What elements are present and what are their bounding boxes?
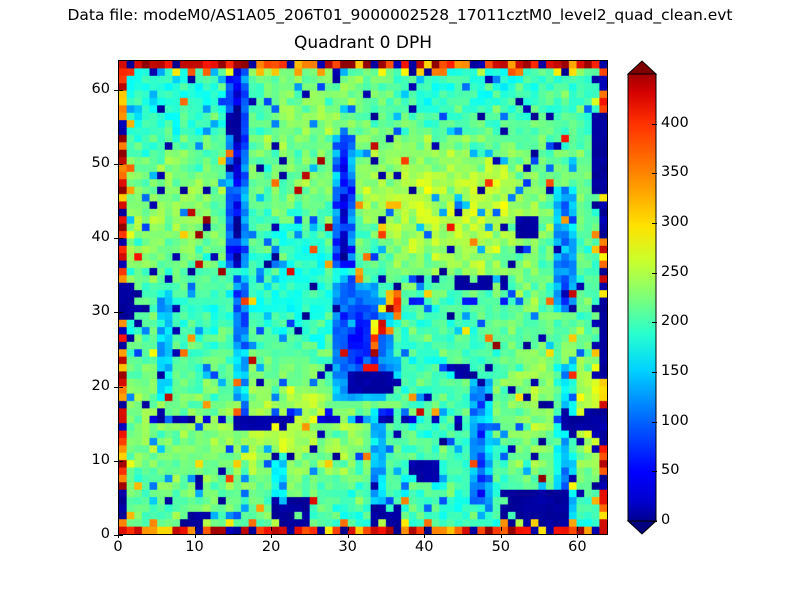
colorbar-tick-mark [652,173,657,174]
x-tick-mark-inner [195,527,196,531]
axes-title: Quadrant 0 DPH [118,33,608,53]
colorbar-tick-mark [652,322,657,323]
y-tick-mark [114,535,118,536]
y-tick-mark-inner [119,164,123,165]
x-tick-label: 30 [318,539,378,555]
x-tick-mark-inner [271,527,272,531]
colorbar-tick-mark [652,422,657,423]
x-tick-mark-inner [501,527,502,531]
y-tick-mark [114,461,118,462]
x-tick-mark [271,534,272,538]
colorbar-gradient [625,60,659,535]
colorbar-tick-label: 350 [661,164,689,180]
colorbar-tick-mark [652,223,657,224]
x-tick-mark-inner [577,527,578,531]
x-tick-mark-inner [424,527,425,531]
y-tick-label: 40 [60,229,110,245]
colorbar-tick-label: 200 [661,313,689,329]
y-tick-label: 20 [60,378,110,394]
x-tick-label: 50 [471,539,531,555]
y-tick-label: 50 [60,155,110,171]
y-tick-label: 60 [60,81,110,97]
colorbar-tick-label: 300 [661,214,689,230]
colorbar-tick-mark [652,273,657,274]
x-tick-label: 40 [394,539,454,555]
x-tick-label: 60 [547,539,607,555]
colorbar-body [628,74,656,521]
colorbar-tick-label: 400 [661,115,689,131]
heatmap-image [119,61,607,534]
colorbar-tick-mark [652,124,657,125]
y-tick-mark [114,164,118,165]
y-tick-mark [114,238,118,239]
colorbar-tick-label: 50 [661,462,679,478]
y-tick-mark [114,312,118,313]
x-tick-label: 20 [241,539,301,555]
x-tick-mark [195,534,196,538]
x-tick-mark [501,534,502,538]
x-tick-mark [424,534,425,538]
y-tick-mark-inner [119,90,123,91]
y-tick-mark-inner [119,238,123,239]
y-tick-mark [114,387,118,388]
x-tick-mark [577,534,578,538]
colorbar-extend-max-arrow [628,61,656,74]
x-tick-label: 10 [165,539,225,555]
y-tick-mark-inner [119,312,123,313]
colorbar-tick-mark [652,372,657,373]
colorbar-tick-label: 0 [661,512,670,528]
colorbar-tick-label: 100 [661,413,689,429]
colorbar-tick-mark [652,521,657,522]
y-tick-mark [114,90,118,91]
x-tick-mark-inner [348,527,349,531]
y-tick-mark-inner [119,461,123,462]
y-tick-mark-inner [119,535,123,536]
colorbar-tick-label: 150 [661,363,689,379]
y-tick-label: 30 [60,303,110,319]
heatmap-axes [118,60,608,535]
y-tick-label: 0 [60,526,110,542]
colorbar [625,60,659,535]
x-tick-mark [348,534,349,538]
y-tick-label: 10 [60,452,110,468]
colorbar-tick-label: 250 [661,264,689,280]
colorbar-extend-min-arrow [628,521,656,534]
matplotlib-figure: Data file: modeM0/AS1A05_206T01_90000025… [0,0,800,600]
y-tick-mark-inner [119,387,123,388]
figure-suptitle: Data file: modeM0/AS1A05_206T01_90000025… [0,6,800,24]
x-tick-mark-inner [118,527,119,531]
colorbar-tick-mark [652,471,657,472]
